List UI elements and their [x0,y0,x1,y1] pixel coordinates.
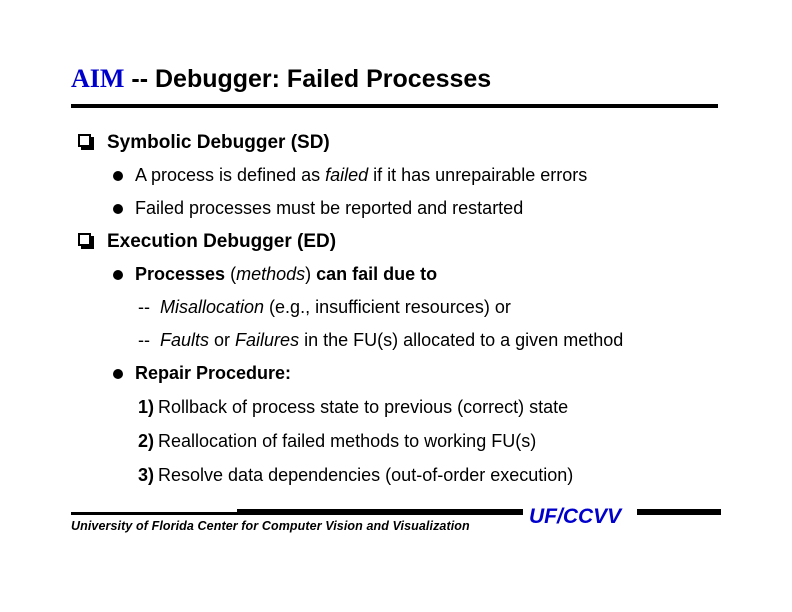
list-item: Repair Procedure: [0,357,792,390]
bullet-text-part: can fail due to [311,264,437,284]
bullet-text-part: Processes [135,264,230,284]
item-number: 3) [138,458,154,492]
hollow-square-bullet-icon [78,233,91,246]
slide-canvas: AIM -- Debugger: Failed Processes Symbol… [0,0,792,612]
list-item: Failed processes must be reported and re… [0,192,792,225]
footer-divider-left [71,512,237,515]
hollow-square-bullet-icon [78,134,91,147]
item-text: Rollback of process state to previous (c… [158,397,568,417]
bullet-text-part: Failed processes must be reported and re… [135,198,523,218]
list-item: Processes (methods) can fail due to [0,258,792,291]
page-title: AIM -- Debugger: Failed Processes [71,64,721,94]
footer-brand: UF/CCVV [529,505,621,529]
bullet-text-part: A process is defined as [135,165,325,185]
title-highlight: AIM [71,64,124,93]
sub-text-part-italic: Failures [235,330,299,350]
item-text: Reallocation of failed methods to workin… [158,431,536,451]
bullet-text-part: Repair Procedure: [135,363,291,383]
sub-list-item: --Misallocation (e.g., insufficient reso… [0,291,792,324]
item-number: 1) [138,390,154,424]
footer-institution: University of Florida Center for Compute… [71,519,470,533]
sub-text-part-italic: Misallocation [160,297,264,317]
numbered-list-item: 3)Resolve data dependencies (out-of-orde… [0,458,792,492]
title-line: AIM -- Debugger: Failed Processes [71,64,721,94]
title-rest: -- Debugger: Failed Processes [124,65,491,93]
sub-text-part-italic: Faults [160,330,209,350]
list-item: A process is defined as failed if it has… [0,159,792,192]
dash-marker: -- [138,324,160,357]
footer-divider-middle [237,509,523,515]
sub-text-part: (e.g., insufficient resources) or [264,297,511,317]
slide-body: Symbolic Debugger (SD) A process is defi… [0,126,792,492]
numbered-list-item: 2)Reallocation of failed methods to work… [0,424,792,458]
title-divider [71,104,718,108]
sub-text-part: or [209,330,235,350]
item-number: 2) [138,424,154,458]
filled-circle-bullet-icon [113,171,123,181]
section-heading-label: Execution Debugger (ED) [107,231,336,252]
filled-circle-bullet-icon [113,369,123,379]
bullet-text-part: if it has unrepairable errors [368,165,587,185]
footer-divider-right [637,509,721,515]
bullet-text-part-italic: methods [236,264,305,284]
dash-marker: -- [138,291,160,324]
numbered-list-item: 1)Rollback of process state to previous … [0,390,792,424]
filled-circle-bullet-icon [113,204,123,214]
section-heading-symbolic-debugger: Symbolic Debugger (SD) [0,126,792,159]
section-heading-execution-debugger: Execution Debugger (ED) [0,225,792,258]
bullet-text-part-italic: failed [325,165,368,185]
section-heading-label: Symbolic Debugger (SD) [107,132,330,153]
sub-list-item: --Faults or Failures in the FU(s) alloca… [0,324,792,357]
sub-text-part: in the FU(s) allocated to a given method [299,330,623,350]
item-text: Resolve data dependencies (out-of-order … [158,465,573,485]
filled-circle-bullet-icon [113,270,123,280]
